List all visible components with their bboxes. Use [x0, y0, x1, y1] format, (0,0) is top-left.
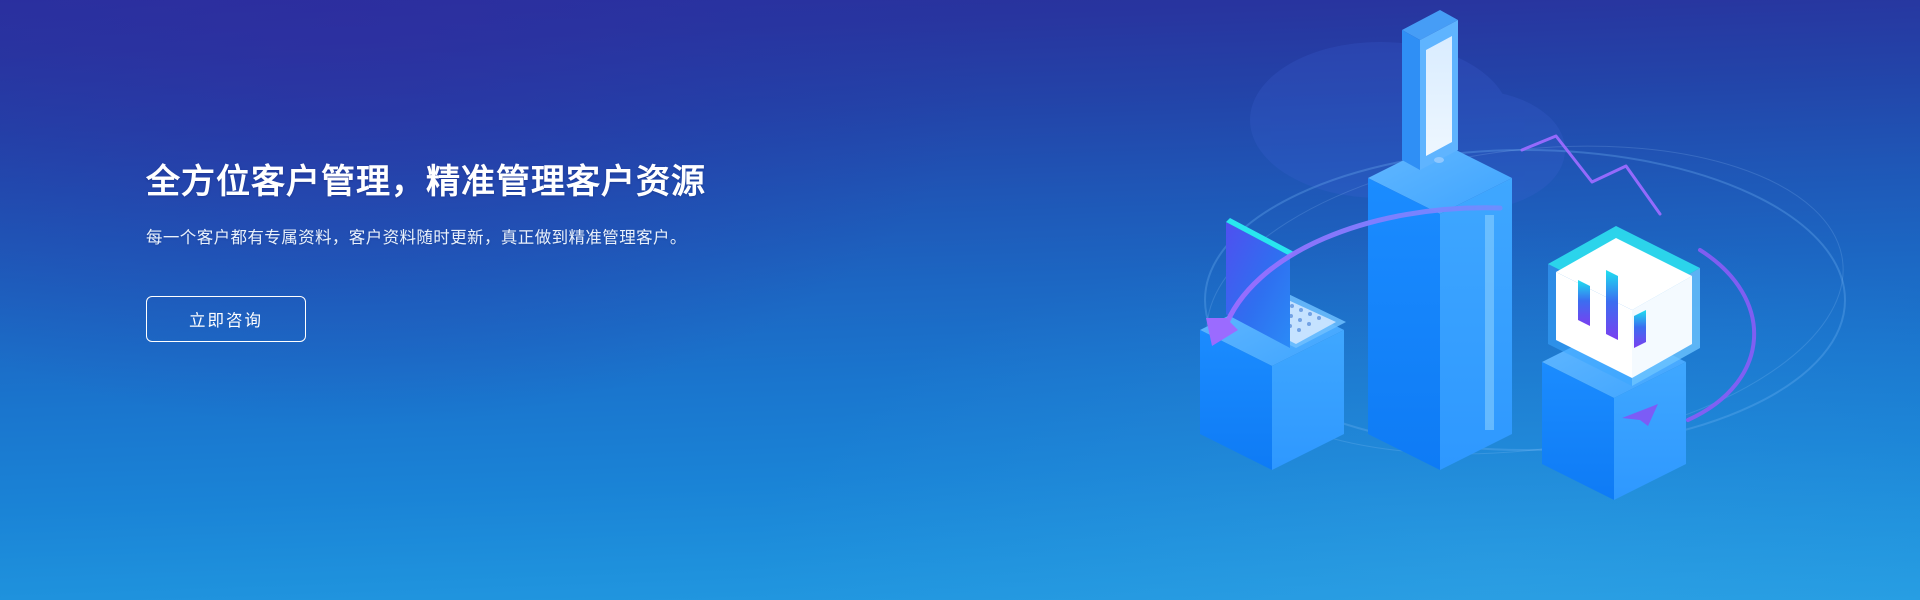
- consult-now-button[interactable]: 立即咨询: [146, 296, 306, 342]
- hero-subtitle: 每一个客户都有专属资料，客户资料随时更新，真正做到精准管理客户。: [146, 225, 731, 252]
- hero-banner: 全方位客户管理，精准管理客户资源 每一个客户都有专属资料，客户资料随时更新，真正…: [0, 0, 1920, 600]
- tablet-pillar: [1368, 142, 1512, 470]
- hero-copy-block: 全方位客户管理，精准管理客户资源 每一个客户都有专属资料，客户资料随时更新，真正…: [146, 162, 786, 342]
- page-title: 全方位客户管理，精准管理客户资源: [146, 162, 786, 203]
- hero-illustration: [1140, 0, 1920, 600]
- tablet-device: [1402, 10, 1458, 170]
- bar-3: [1634, 310, 1646, 348]
- bar-2: [1606, 270, 1618, 340]
- bar-1: [1578, 280, 1590, 326]
